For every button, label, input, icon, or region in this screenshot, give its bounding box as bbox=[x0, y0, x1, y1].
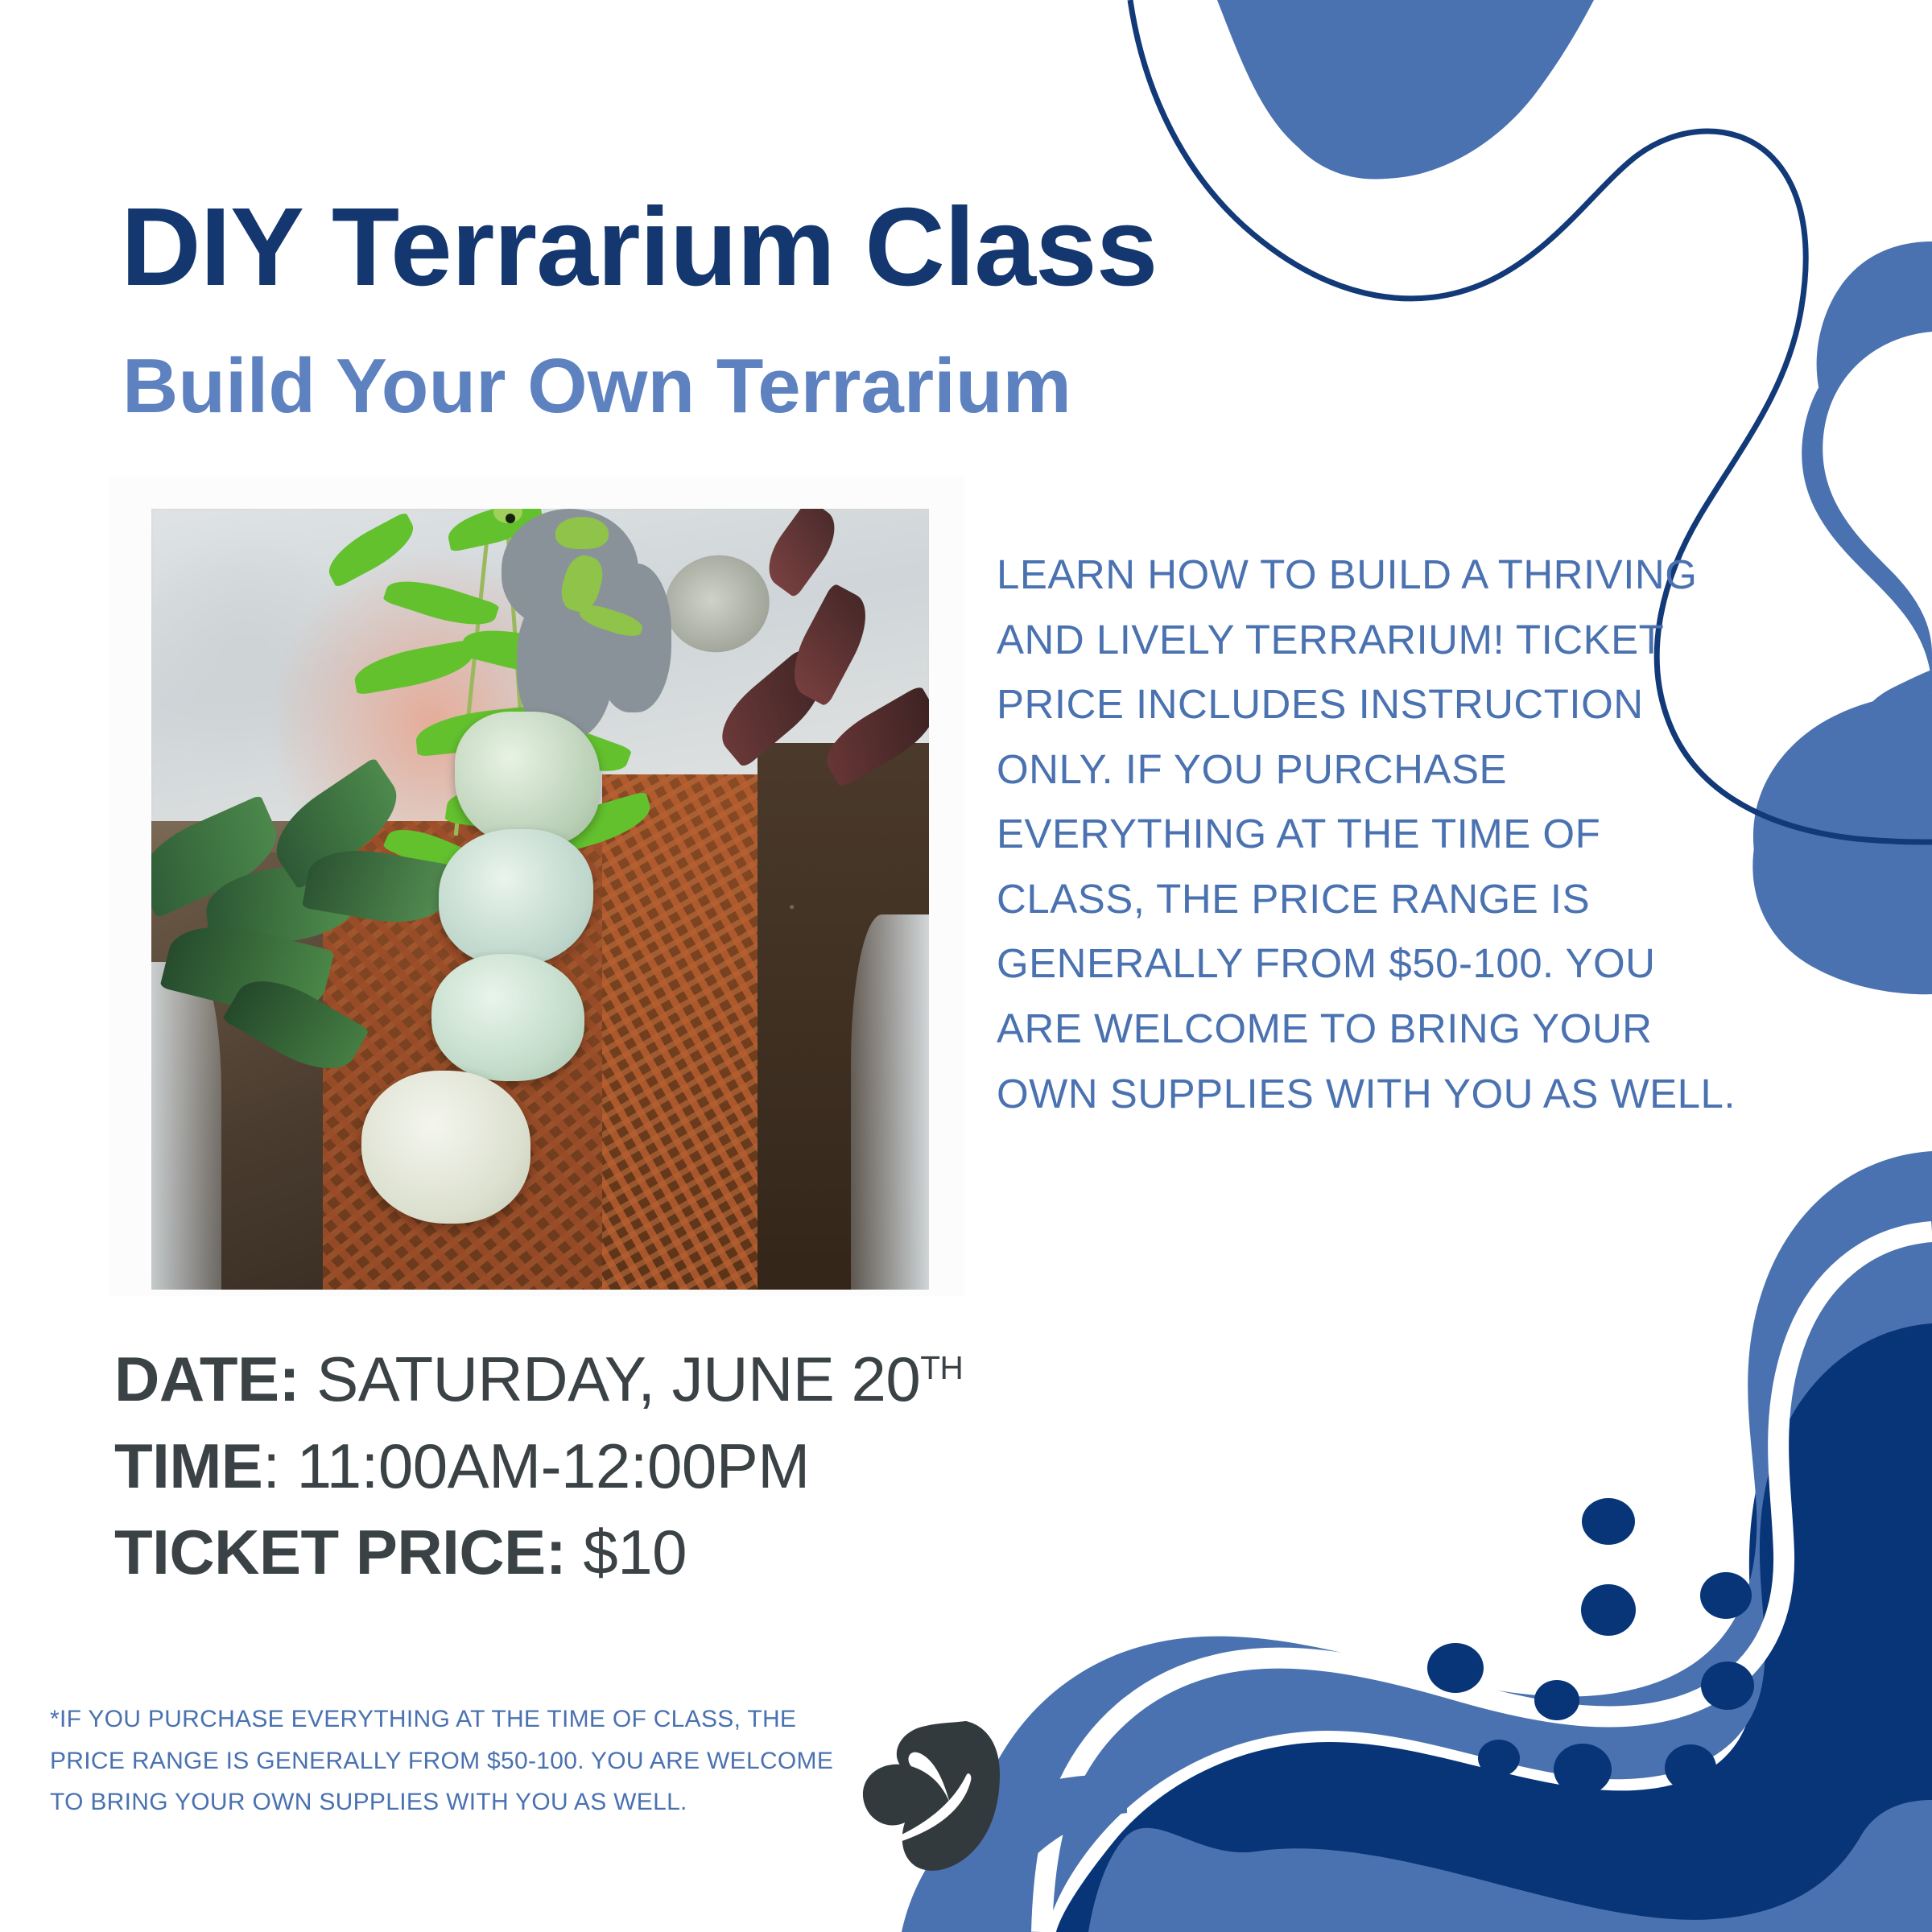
dot bbox=[1792, 1611, 1840, 1654]
dot bbox=[1534, 1680, 1579, 1720]
detail-row-date: DATE: SATURDAY, JUNE 20TH bbox=[114, 1336, 1241, 1423]
top-right-blob-notch bbox=[1823, 332, 1932, 654]
time-label: TIME bbox=[114, 1430, 262, 1501]
detail-row-price: TICKET PRICE: $10 bbox=[114, 1509, 1241, 1596]
dot bbox=[1427, 1643, 1484, 1693]
dot bbox=[1478, 1740, 1520, 1777]
time-separator: : bbox=[262, 1430, 296, 1501]
dot bbox=[1554, 1744, 1612, 1795]
wave-medium-blue-band bbox=[1088, 1800, 1932, 1932]
page-subtitle: Build Your Own Terrarium bbox=[122, 348, 1071, 425]
date-ordinal-suffix: TH bbox=[920, 1349, 963, 1386]
wave-dark-navy-right bbox=[1799, 1368, 1932, 1932]
poster-canvas: DIY Terrarium Class Build Your Own Terra… bbox=[0, 0, 1932, 1932]
dot bbox=[1700, 1572, 1752, 1619]
dot bbox=[1582, 1498, 1635, 1545]
dot bbox=[1701, 1662, 1754, 1710]
dot-cluster bbox=[1427, 1498, 1840, 1795]
date-label: DATE: bbox=[114, 1344, 299, 1414]
leaf-icon bbox=[845, 1715, 1022, 1908]
dot bbox=[1778, 1702, 1828, 1747]
dot bbox=[1581, 1584, 1636, 1636]
price-value: $10 bbox=[583, 1517, 687, 1587]
footnote-text: *IF YOU PURCHASE EVERYTHING AT THE TIME … bbox=[50, 1699, 863, 1823]
date-value: SATURDAY, JUNE 20 bbox=[316, 1344, 920, 1414]
time-value: 11:00AM-12:00PM bbox=[297, 1430, 810, 1501]
page-title: DIY Terrarium Class bbox=[121, 192, 1158, 303]
description-paragraph: LEARN HOW TO BUILD A THRIVING AND LIVELY… bbox=[997, 543, 1745, 1126]
detail-row-time: TIME: 11:00AM-12:00PM bbox=[114, 1423, 1241, 1510]
dot bbox=[1665, 1744, 1716, 1791]
event-details: DATE: SATURDAY, JUNE 20TH TIME: 11:00AM-… bbox=[114, 1336, 1241, 1596]
price-label: TICKET PRICE: bbox=[114, 1517, 566, 1587]
terrarium-photo bbox=[151, 509, 929, 1290]
